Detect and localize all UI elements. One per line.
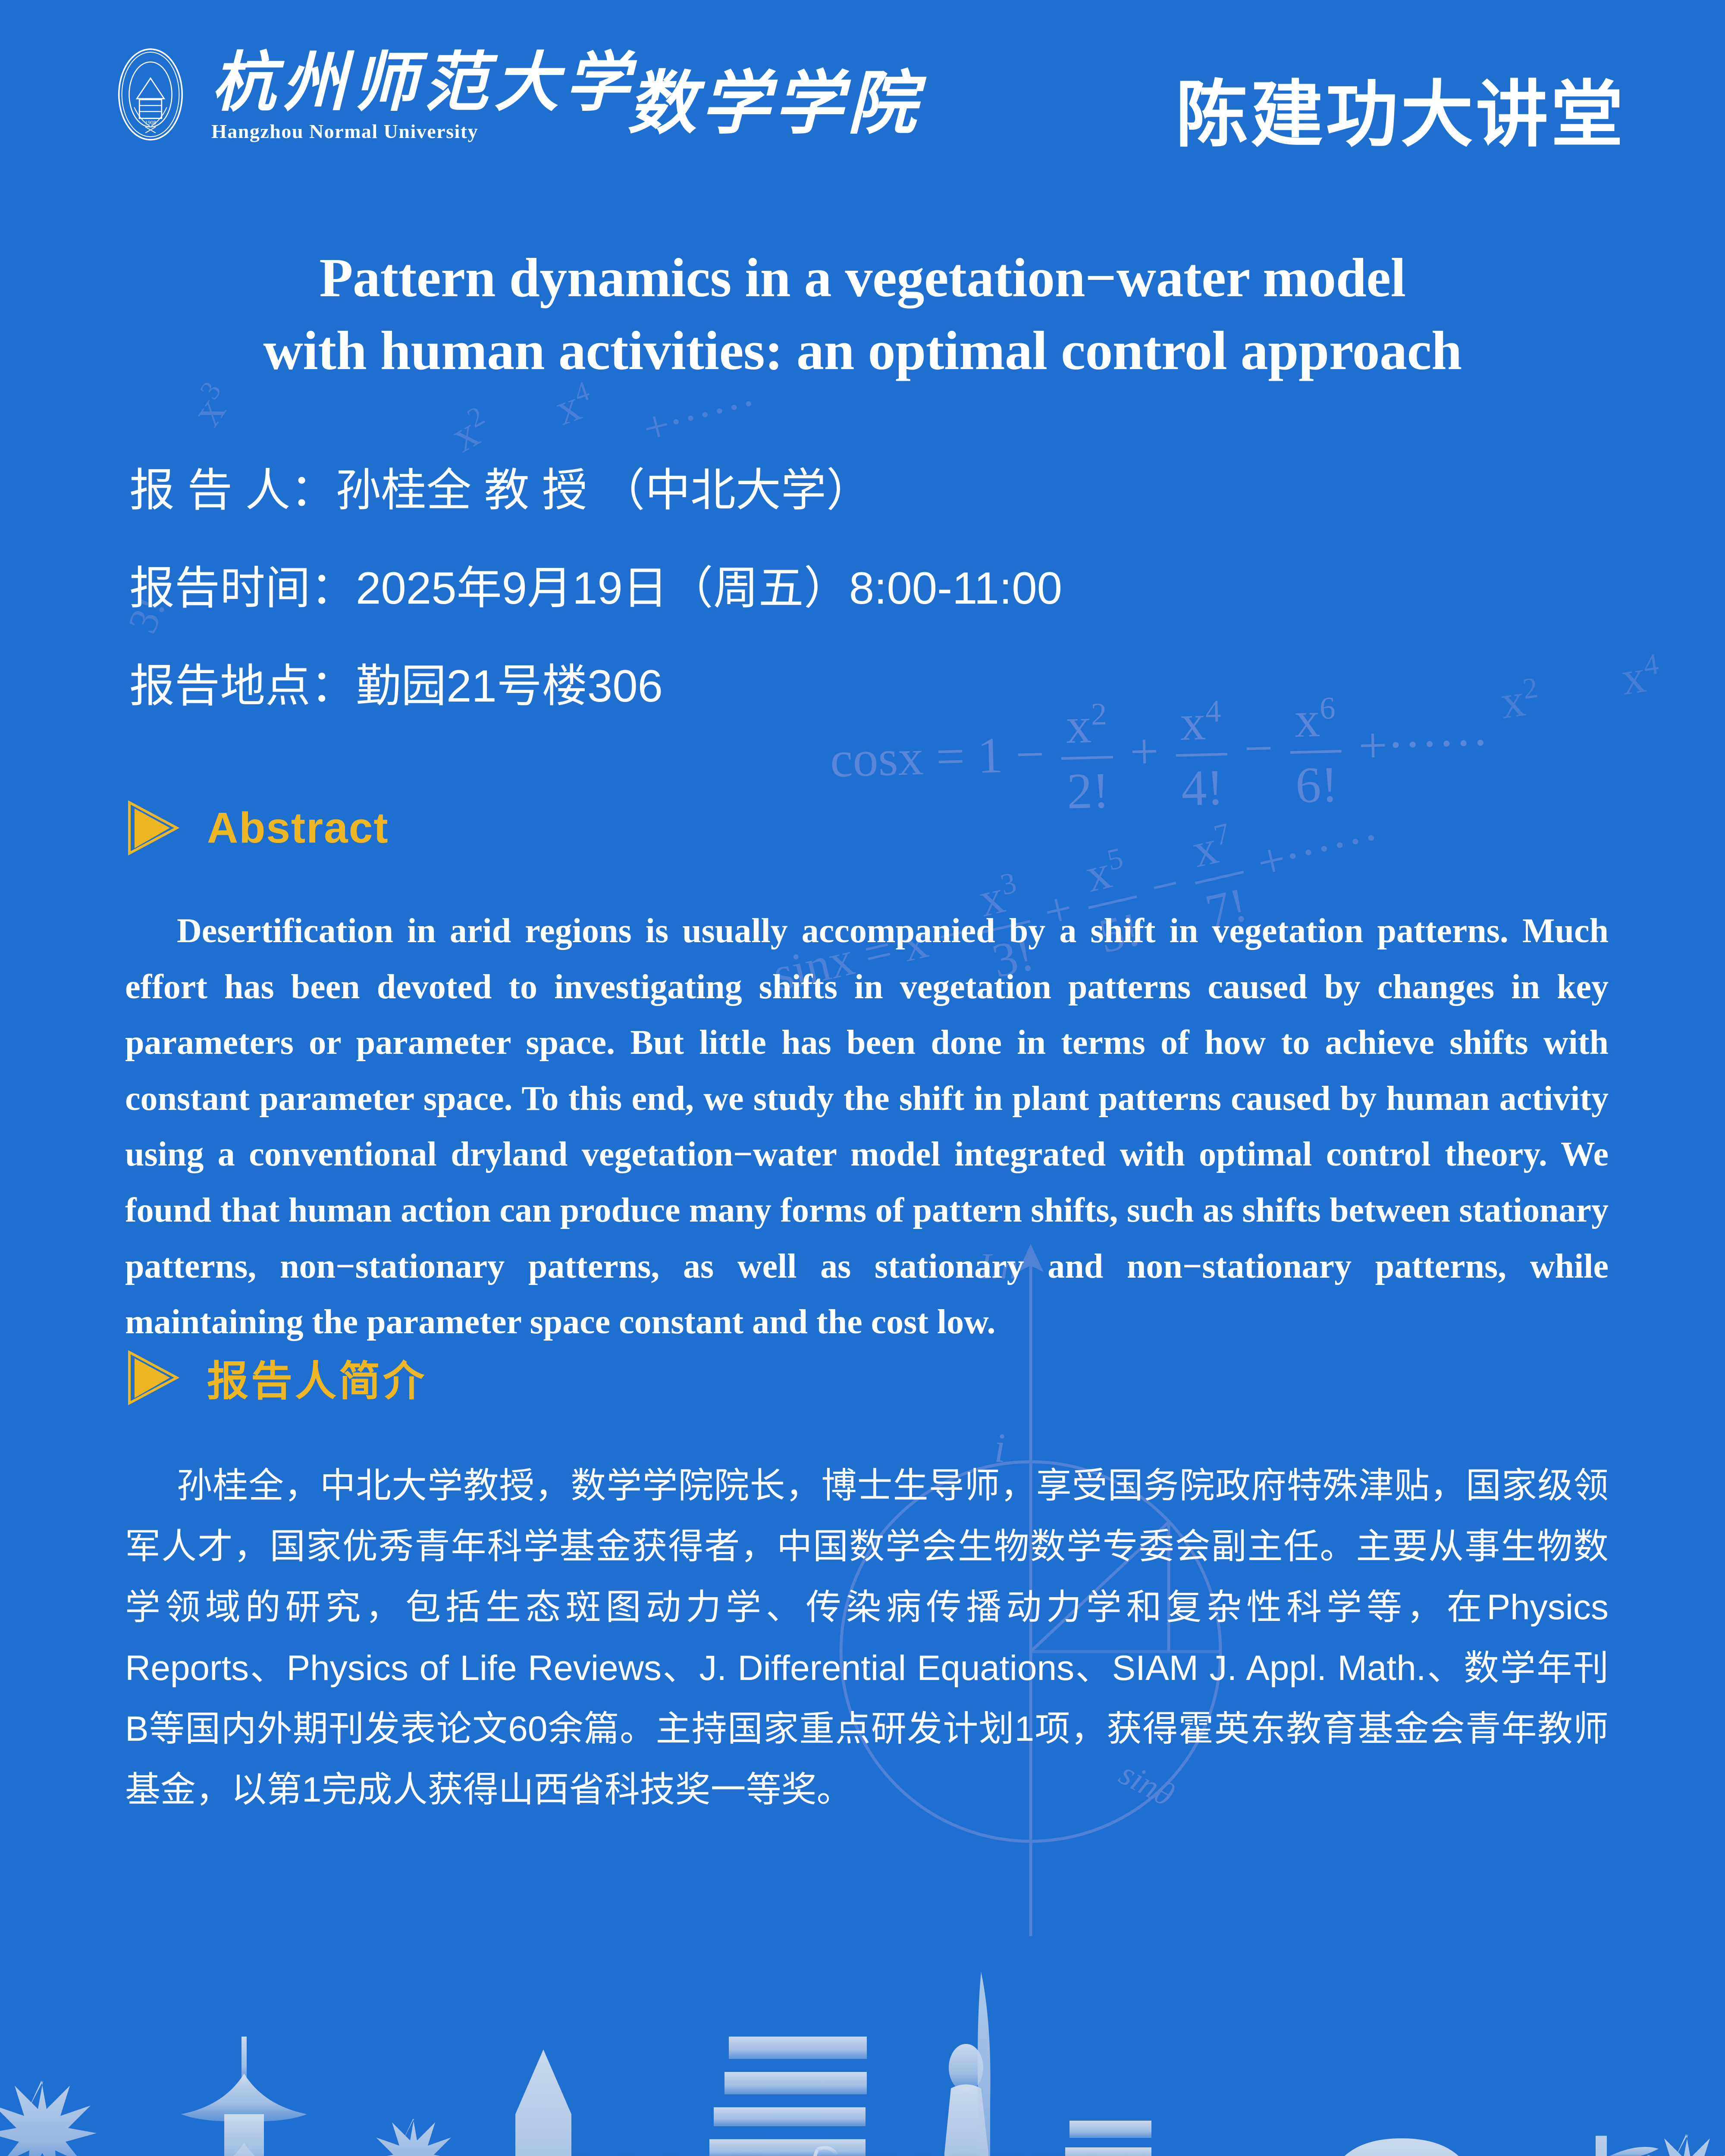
school-name-cn: 数学学院 [627,47,921,147]
organizer-footer: 主办方 杭州师范大学数学学院 [0,2149,1725,2156]
event-info-block: 报 告 人：孙桂全 教 授 （中北大学） 报告时间：2025年9月19日（周五）… [129,468,1596,761]
abstract-body-text: Desertification in arid regions is usual… [125,903,1609,1351]
footer-skyline-illustration: 数学学院 [0,1972,1725,2156]
spire-column-icon [978,1972,991,2156]
left-scenery-group [0,2037,501,2156]
info-time: 报告时间：2025年9月19日（周五）8:00-11:00 [129,566,1596,611]
play-triangle-icon [125,800,180,856]
lecture-series-title: 陈建功大讲堂 [1176,56,1626,161]
watermark-f6: 6! [1290,752,1343,815]
watermark-x-squared-top: x2 [442,400,499,462]
seal-year-label: 1908 [145,119,156,125]
watermark-x: x [1081,845,1116,902]
watermark-ellipsis: +······ [1252,810,1385,890]
bio-heading-label: 报告人简介 [207,1347,427,1407]
watermark-exp3: 3 [997,866,1019,902]
pagoda-icon [181,2037,307,2156]
watermark-x: x [549,380,587,435]
watermark-exp4: 4 [1641,647,1660,682]
striped-tower-icon [664,2037,870,2156]
chrysanthemum-icon [0,2081,97,2156]
watermark-x: x [1187,820,1223,877]
watermark-exp7: 7 [1211,817,1233,852]
lecture-poster: x3 x2 x4 +······ 3! x2 x4 cosx = 1 − x2 … [0,0,1725,2156]
watermark-x: x [443,407,487,462]
watermark-f4: 4! [1176,755,1229,818]
info-speaker: 报 告 人：孙桂全 教 授 （中北大学） [129,468,1596,513]
bio-body-text: 孙桂全，中北大学教授，数学学院院长，博士生导师，享受国务院政府特殊津贴，国家级领… [125,1455,1609,1820]
university-seal-icon: 1908 [103,47,198,141]
play-triangle-icon [125,1350,180,1406]
page-title-line-1: Pattern dynamics in a vegetation−water m… [0,241,1725,314]
watermark-exp5: 5 [1104,841,1126,877]
poster-header: 1908 杭州师范大学 Hangzhou Normal University 数… [0,0,1725,181]
watermark-exp2: 2 [462,400,489,434]
page-title-line-2: with human activities: an optimal contro… [0,314,1725,387]
page-title: Pattern dynamics in a vegetation−water m… [0,241,1725,387]
watermark-x3: x [182,388,235,434]
watermark-f2: 2! [1062,758,1115,821]
person-statue-icon [944,2044,989,2156]
bio-section-heading: 报告人简介 [125,1347,427,1407]
watermark-x: x [1618,649,1649,705]
pointed-tower-icon [515,2049,571,2156]
watermark-x-fourth-right: x4 [1618,646,1664,706]
abstract-heading-label: Abstract [207,803,389,853]
info-venue: 报告地点：勤园21号楼306 [129,664,1596,709]
abstract-section-heading: Abstract [125,800,389,856]
watermark-ellipsis-top: +······ [638,377,762,455]
